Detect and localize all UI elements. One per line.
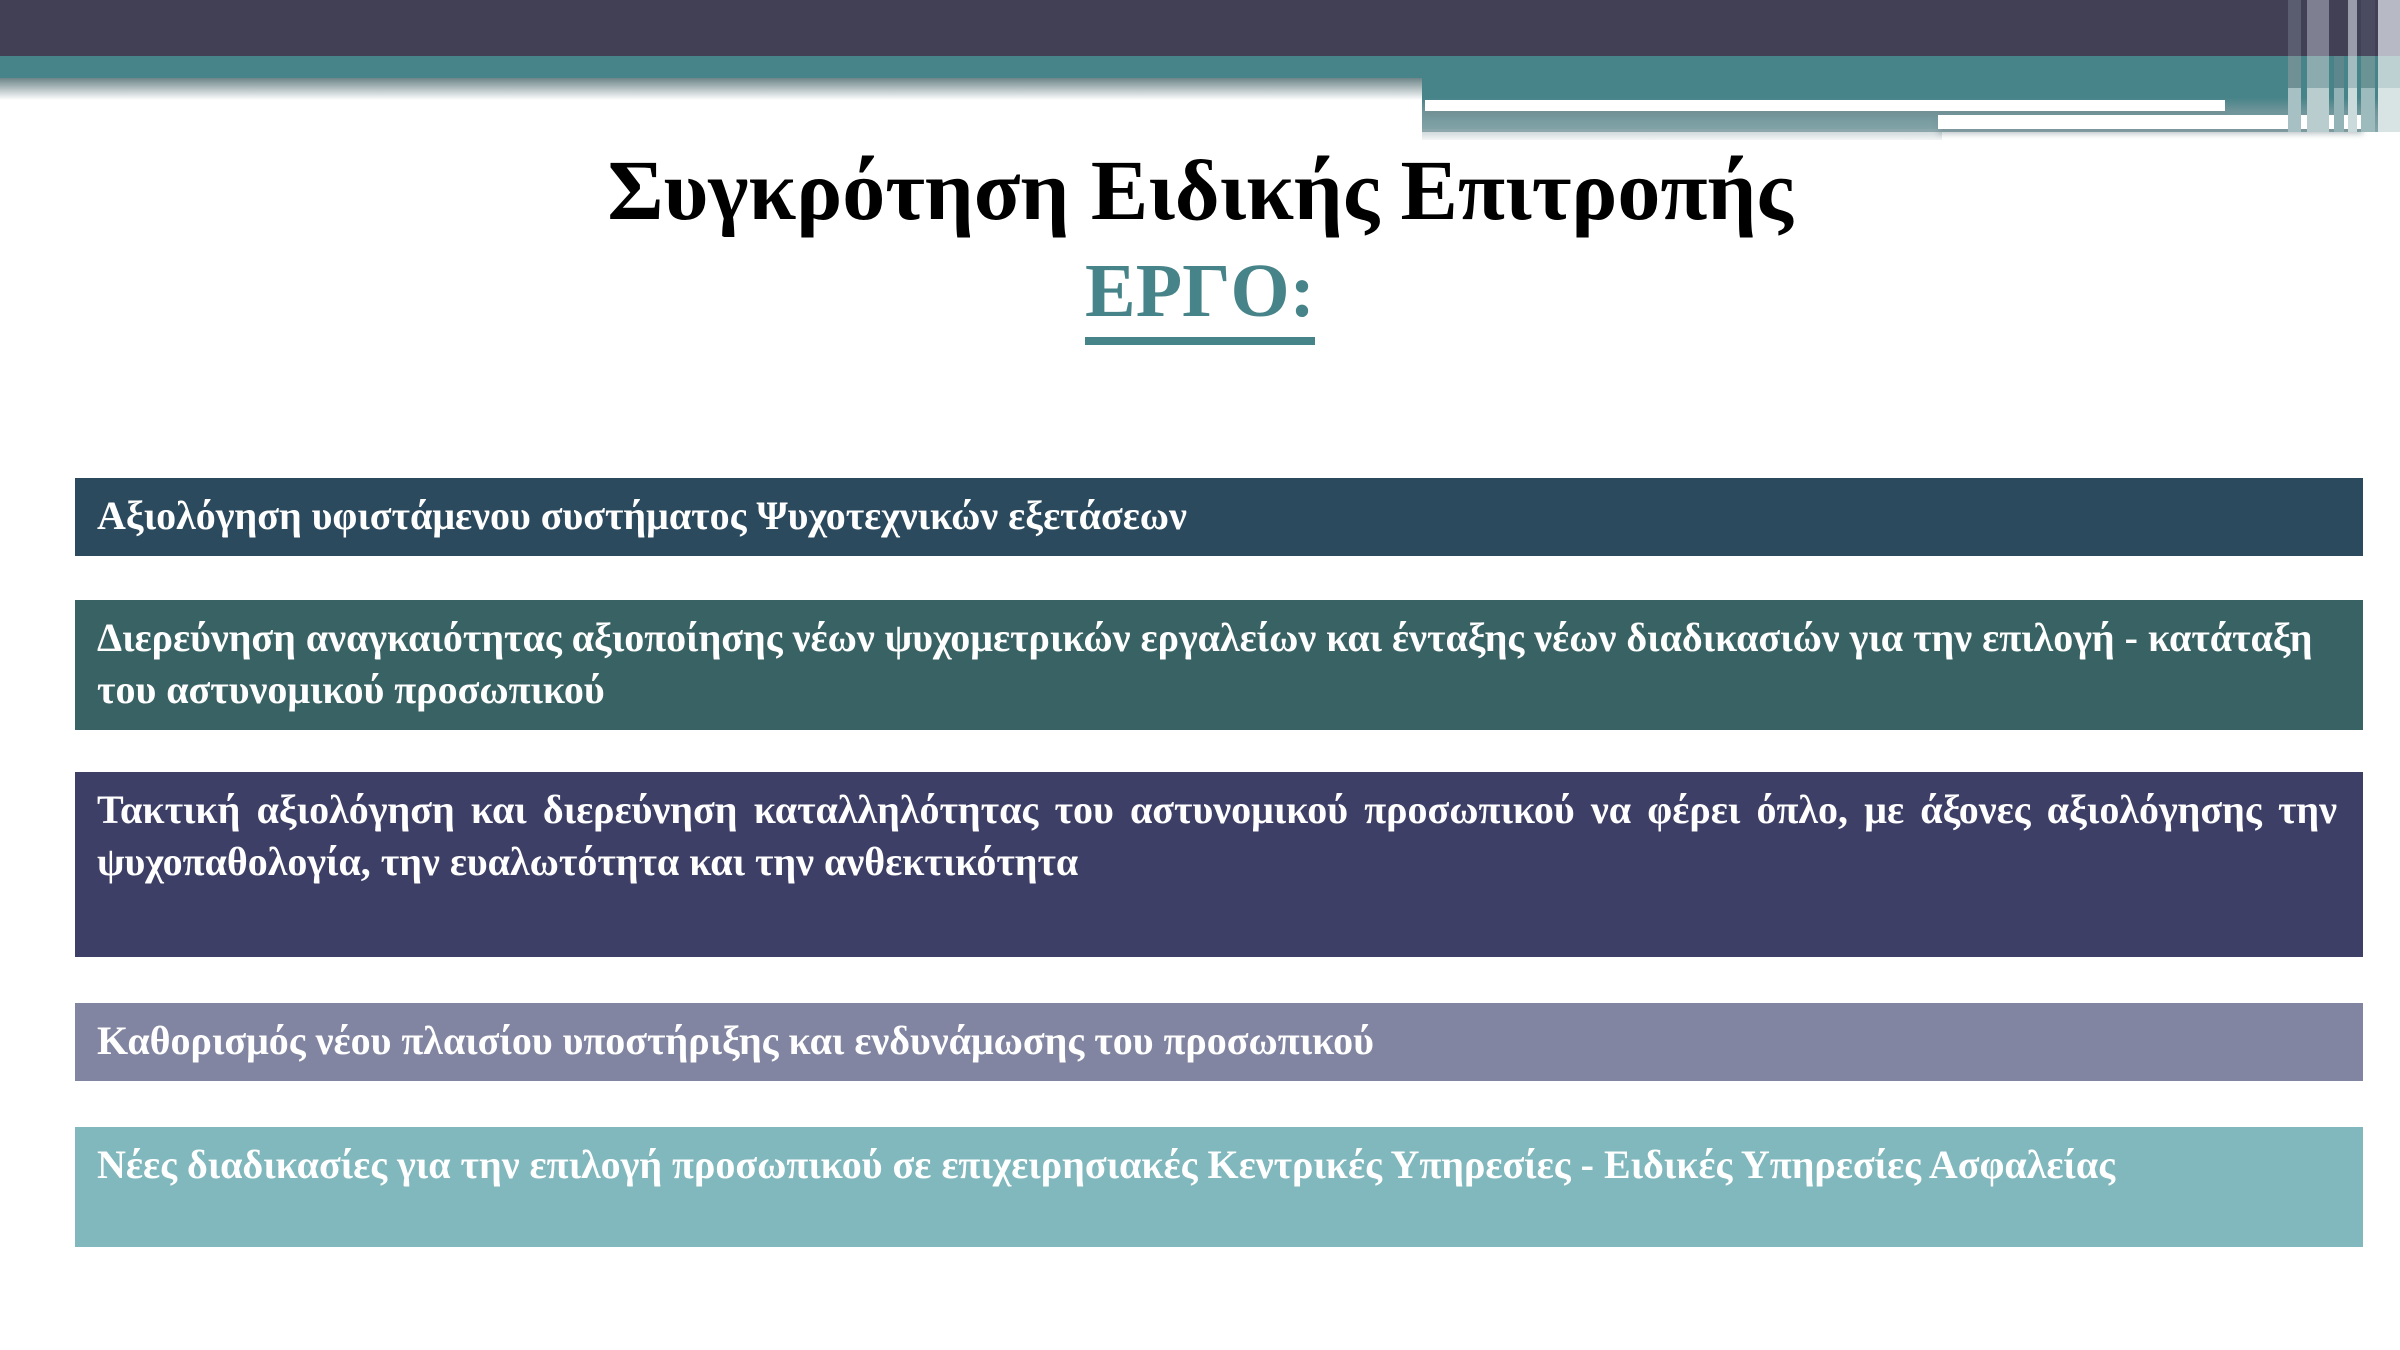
slide-canvas: Συγκρότηση Ειδικής Επιτροπής ΕΡΓΟ: Αξιολ…: [0, 0, 2400, 1350]
page-subtitle-text: ΕΡΓΟ:: [1085, 249, 1315, 345]
corner-stripe-4: [2348, 0, 2357, 132]
white-accent-line-1: [1425, 100, 2225, 111]
content-bar-text: Αξιολόγηση υφιστάμενου συστήματος Ψυχοτε…: [97, 490, 2337, 542]
corner-stripe-5: [2361, 0, 2375, 132]
title-block: Συγκρότηση Ειδικής Επιτροπής ΕΡΓΟ:: [0, 142, 2400, 332]
content-bar[interactable]: Τακτική αξιολόγηση και διερεύνηση καταλλ…: [75, 772, 2363, 957]
navy-band: [0, 0, 2400, 56]
header-decoration: [0, 0, 2400, 140]
corner-stripe-1: [2288, 0, 2301, 132]
content-bar-list: Αξιολόγηση υφιστάμενου συστήματος Ψυχοτε…: [75, 478, 2363, 1247]
content-bar[interactable]: Διερεύνηση αναγκαιότητας αξιοποίησης νέω…: [75, 600, 2363, 730]
content-bar[interactable]: Νέες διαδικασίες για την επιλογή προσωπι…: [75, 1127, 2363, 1247]
page-title: Συγκρότηση Ειδικής Επιτροπής: [0, 142, 2400, 238]
corner-stripe-3: [2334, 0, 2344, 132]
content-bar[interactable]: Καθορισμός νέου πλαισίου υποστήριξης και…: [75, 1003, 2363, 1081]
corner-stripe-6: [2378, 0, 2400, 132]
teal-band-shadow: [0, 78, 1422, 100]
teal-block-shadow: [1422, 129, 1942, 140]
content-bar-text: Διερεύνηση αναγκαιότητας αξιοποίησης νέω…: [97, 612, 2337, 716]
corner-stripe-2: [2307, 0, 2329, 132]
content-bar-text: Νέες διαδικασίες για την επιλογή προσωπι…: [97, 1139, 2337, 1191]
content-bar-text: Καθορισμός νέου πλαισίου υποστήριξης και…: [97, 1015, 2337, 1067]
content-bar[interactable]: Αξιολόγηση υφιστάμενου συστήματος Ψυχοτε…: [75, 478, 2363, 556]
page-subtitle: ΕΡΓΟ:: [0, 252, 2400, 332]
content-bar-text: Τακτική αξιολόγηση και διερεύνηση καταλλ…: [97, 784, 2337, 888]
corner-stripes: [2282, 0, 2400, 132]
